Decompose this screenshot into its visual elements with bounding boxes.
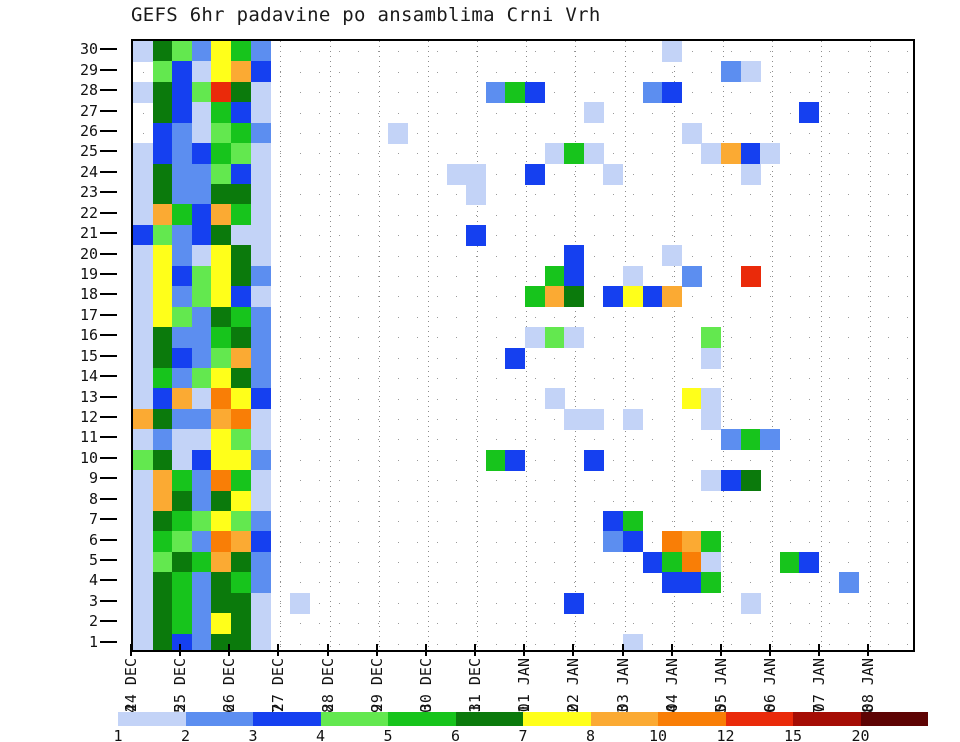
- heatmap-cell: [251, 225, 271, 246]
- heatmap-cell: [584, 102, 604, 123]
- heatmap-cell: [153, 82, 173, 103]
- heatmap-cell: [133, 368, 153, 389]
- chart-page: GEFS 6hr padavine po ansamblima Crni Vrh…: [0, 0, 960, 742]
- y-axis-tick: [100, 477, 117, 479]
- heatmap-cell: [153, 286, 173, 307]
- heatmap-cell: [172, 143, 192, 164]
- heatmap-cell: [486, 82, 506, 103]
- heatmap-cells: [133, 41, 913, 650]
- heatmap-cell: [153, 531, 173, 552]
- y-axis-label: 7: [89, 510, 98, 528]
- heatmap-cell: [251, 634, 271, 652]
- heatmap-cell: [231, 593, 251, 614]
- heatmap-cell: [172, 102, 192, 123]
- colorbar-tick-label: 7: [518, 727, 527, 742]
- heatmap-cell: [172, 225, 192, 246]
- y-axis-label: 17: [80, 306, 98, 324]
- heatmap-cell: [153, 61, 173, 82]
- heatmap-cell: [211, 552, 231, 573]
- heatmap-cell: [623, 286, 643, 307]
- heatmap-cell: [153, 593, 173, 614]
- heatmap-cell: [192, 225, 212, 246]
- heatmap-cell: [172, 429, 192, 450]
- heatmap-cell: [192, 348, 212, 369]
- heatmap-cell: [172, 61, 192, 82]
- heatmap-cell: [623, 511, 643, 532]
- heatmap-cell: [192, 572, 212, 593]
- heatmap-cell: [505, 450, 525, 471]
- heatmap-cell: [192, 491, 212, 512]
- heatmap-cell: [192, 102, 212, 123]
- heatmap-cell: [153, 450, 173, 471]
- colorbar-tick-label: 10: [649, 727, 667, 742]
- heatmap-cell: [153, 511, 173, 532]
- heatmap-cell: [231, 552, 251, 573]
- heatmap-cell: [231, 613, 251, 634]
- heatmap-cell: [525, 164, 545, 185]
- heatmap-cell: [251, 204, 271, 225]
- colorbar-swatch: [861, 712, 929, 726]
- heatmap-cell: [721, 429, 741, 450]
- x-axis-tick: [277, 644, 279, 656]
- y-axis-label: 13: [80, 388, 98, 406]
- y-axis-tick: [100, 518, 117, 520]
- heatmap-cell: [133, 613, 153, 634]
- y-axis-tick: [100, 89, 117, 91]
- heatmap-cell: [251, 470, 271, 491]
- heatmap-cell: [839, 572, 859, 593]
- heatmap-cell: [251, 286, 271, 307]
- heatmap-cell: [662, 552, 682, 573]
- y-axis-label: 29: [80, 61, 98, 79]
- heatmap-cell: [721, 143, 741, 164]
- heatmap-cell: [153, 572, 173, 593]
- heatmap-cell: [545, 388, 565, 409]
- heatmap-cell: [153, 266, 173, 287]
- heatmap-cell: [192, 184, 212, 205]
- y-axis-label: 28: [80, 81, 98, 99]
- x-axis-tick: [867, 644, 869, 656]
- y-axis-label: 16: [80, 326, 98, 344]
- heatmap-cell: [192, 245, 212, 266]
- heatmap-cell: [192, 204, 212, 225]
- heatmap-cell: [153, 164, 173, 185]
- heatmap-cell: [525, 327, 545, 348]
- heatmap-cell: [662, 531, 682, 552]
- heatmap-cell: [623, 266, 643, 287]
- heatmap-cell: [153, 143, 173, 164]
- heatmap-cell: [251, 307, 271, 328]
- heatmap-cell: [133, 82, 153, 103]
- colorbar-tick-label: 8: [586, 727, 595, 742]
- heatmap-cell: [643, 82, 663, 103]
- colorbar-tick-label: 6: [451, 727, 460, 742]
- y-axis-label: 27: [80, 102, 98, 120]
- heatmap-cell: [211, 368, 231, 389]
- y-axis-tick: [100, 110, 117, 112]
- heatmap-cell: [192, 531, 212, 552]
- heatmap-cell: [172, 82, 192, 103]
- heatmap-cell: [133, 327, 153, 348]
- heatmap-cell: [623, 409, 643, 430]
- heatmap-cell: [192, 634, 212, 652]
- x-axis-tick: [474, 644, 476, 656]
- heatmap-cell: [133, 491, 153, 512]
- heatmap-cell: [231, 225, 251, 246]
- y-axis-tick: [100, 191, 117, 193]
- y-axis-tick: [100, 641, 117, 643]
- heatmap-cell: [251, 409, 271, 430]
- y-axis-tick: [100, 253, 117, 255]
- heatmap-cell: [701, 470, 721, 491]
- x-axis-tick: [769, 644, 771, 656]
- heatmap-cell: [192, 61, 212, 82]
- y-axis-tick: [100, 293, 117, 295]
- heatmap-cell: [231, 388, 251, 409]
- heatmap-cell: [721, 470, 741, 491]
- y-axis-label: 24: [80, 163, 98, 181]
- heatmap-cell: [545, 143, 565, 164]
- heatmap-cell: [192, 552, 212, 573]
- heatmap-cell: [211, 82, 231, 103]
- heatmap-cell: [701, 572, 721, 593]
- y-axis-tick: [100, 559, 117, 561]
- heatmap-cell: [133, 184, 153, 205]
- heatmap-cell: [153, 41, 173, 62]
- heatmap-cell: [153, 368, 173, 389]
- x-axis-tick: [130, 644, 132, 656]
- colorbar-swatches: [118, 712, 928, 726]
- heatmap-cell: [172, 245, 192, 266]
- heatmap-cell: [153, 102, 173, 123]
- heatmap-cell: [505, 82, 525, 103]
- heatmap-cell: [153, 388, 173, 409]
- colorbar-swatch: [186, 712, 254, 726]
- heatmap-cell: [231, 491, 251, 512]
- y-axis-label: 6: [89, 531, 98, 549]
- heatmap-cell: [192, 164, 212, 185]
- heatmap-cell: [251, 245, 271, 266]
- heatmap-cell: [251, 593, 271, 614]
- heatmap-cell: [211, 511, 231, 532]
- heatmap-cell: [211, 491, 231, 512]
- heatmap-cell: [251, 61, 271, 82]
- heatmap-cell: [211, 61, 231, 82]
- heatmap-cell: [780, 552, 800, 573]
- heatmap-cell: [231, 41, 251, 62]
- colorbar-swatch: [726, 712, 794, 726]
- heatmap-cell: [741, 164, 761, 185]
- heatmap-cell: [153, 245, 173, 266]
- x-axis-tick: [622, 644, 624, 656]
- heatmap-cell: [172, 491, 192, 512]
- heatmap-cell: [172, 348, 192, 369]
- heatmap-cell: [603, 511, 623, 532]
- heatmap-cell: [564, 286, 584, 307]
- heatmap-cell: [741, 470, 761, 491]
- heatmap-cell: [623, 531, 643, 552]
- heatmap-cell: [172, 531, 192, 552]
- heatmap-cell: [231, 286, 251, 307]
- heatmap-cell: [741, 61, 761, 82]
- heatmap-cell: [172, 327, 192, 348]
- y-axis-label: 18: [80, 285, 98, 303]
- y-axis-tick: [100, 457, 117, 459]
- heatmap-cell: [133, 245, 153, 266]
- colorbar-tick-label: 4: [316, 727, 325, 742]
- heatmap-cell: [172, 511, 192, 532]
- y-axis-tick: [100, 314, 117, 316]
- colorbar-swatch: [658, 712, 726, 726]
- heatmap-cell: [153, 634, 173, 652]
- heatmap-cell: [172, 409, 192, 430]
- heatmap-cell: [133, 348, 153, 369]
- colorbar-tick-label: 2: [181, 727, 190, 742]
- heatmap-cell: [682, 572, 702, 593]
- heatmap-cell: [682, 388, 702, 409]
- heatmap-cell: [192, 266, 212, 287]
- heatmap-cell: [192, 450, 212, 471]
- heatmap-cell: [760, 143, 780, 164]
- heatmap-cell: [211, 409, 231, 430]
- x-axis-tick: [818, 644, 820, 656]
- heatmap-cell: [251, 429, 271, 450]
- heatmap-cell: [153, 491, 173, 512]
- heatmap-cell: [211, 572, 231, 593]
- y-axis-tick: [100, 150, 117, 152]
- page-title: GEFS 6hr padavine po ansamblima Crni Vrh: [131, 4, 601, 26]
- heatmap-cell: [545, 266, 565, 287]
- heatmap-cell: [172, 41, 192, 62]
- colorbar-tick-label: 5: [383, 727, 392, 742]
- heatmap-cell: [466, 184, 486, 205]
- heatmap-cell: [172, 388, 192, 409]
- heatmap-cell: [525, 82, 545, 103]
- colorbar-tick-label: 15: [784, 727, 802, 742]
- x-axis-tick: [376, 644, 378, 656]
- x-axis-tick: [179, 644, 181, 656]
- heatmap-cell: [211, 470, 231, 491]
- colorbar-swatch: [456, 712, 524, 726]
- heatmap-cell: [447, 164, 467, 185]
- heatmap-cell: [564, 593, 584, 614]
- heatmap-cell: [133, 41, 153, 62]
- heatmap-cell: [133, 286, 153, 307]
- heatmap-cell: [172, 470, 192, 491]
- heatmap-cell: [741, 143, 761, 164]
- heatmap-cell: [211, 123, 231, 144]
- heatmap-cell: [211, 102, 231, 123]
- heatmap-cell: [643, 552, 663, 573]
- heatmap-cell: [172, 572, 192, 593]
- heatmap-cell: [172, 286, 192, 307]
- heatmap-cell: [172, 613, 192, 634]
- heatmap-cell: [486, 450, 506, 471]
- heatmap-cell: [153, 184, 173, 205]
- y-axis-label: 12: [80, 408, 98, 426]
- heatmap-cell: [192, 593, 212, 614]
- heatmap-cell: [564, 327, 584, 348]
- heatmap-cell: [701, 531, 721, 552]
- x-axis-tick: [228, 644, 230, 656]
- heatmap-cell: [760, 429, 780, 450]
- y-axis-tick: [100, 48, 117, 50]
- heatmap-cell: [192, 123, 212, 144]
- heatmap-cell: [682, 531, 702, 552]
- heatmap-cell: [231, 327, 251, 348]
- heatmap-cell: [211, 41, 231, 62]
- y-axis-tick: [100, 130, 117, 132]
- heatmap-cell: [133, 634, 153, 652]
- heatmap-cell: [211, 348, 231, 369]
- heatmap-cell: [251, 388, 271, 409]
- y-axis-tick: [100, 171, 117, 173]
- heatmap-cell: [211, 184, 231, 205]
- heatmap-cell: [251, 450, 271, 471]
- heatmap-cell: [251, 511, 271, 532]
- y-axis-label: 14: [80, 367, 98, 385]
- heatmap-cell: [211, 307, 231, 328]
- y-axis-tick: [100, 600, 117, 602]
- y-axis-label: 11: [80, 428, 98, 446]
- y-axis-label: 8: [89, 490, 98, 508]
- heatmap-cell: [133, 552, 153, 573]
- heatmap-cell: [133, 450, 153, 471]
- heatmap-cell: [133, 266, 153, 287]
- y-axis-label: 20: [80, 245, 98, 263]
- heatmap-cell: [153, 123, 173, 144]
- heatmap-cell: [662, 82, 682, 103]
- y-axis-label: 10: [80, 449, 98, 467]
- heatmap-cell: [172, 552, 192, 573]
- y-axis: 1234567891011121314151617181920212223242…: [0, 39, 129, 652]
- heatmap-cell: [211, 286, 231, 307]
- heatmap-cell: [564, 409, 584, 430]
- y-axis-label: 26: [80, 122, 98, 140]
- colorbar-swatch: [118, 712, 186, 726]
- heatmap-cell: [545, 327, 565, 348]
- heatmap-cell: [231, 429, 251, 450]
- heatmap-cell: [290, 593, 310, 614]
- heatmap-cell: [799, 552, 819, 573]
- heatmap-cell: [231, 61, 251, 82]
- heatmap-cell: [701, 327, 721, 348]
- heatmap-cell: [211, 531, 231, 552]
- y-axis-label: 9: [89, 469, 98, 487]
- heatmap-cell: [231, 348, 251, 369]
- heatmap-cell: [211, 429, 231, 450]
- heatmap-cell: [721, 61, 741, 82]
- heatmap-cell: [153, 348, 173, 369]
- heatmap-cell: [153, 225, 173, 246]
- colorbar-tick-label: 12: [716, 727, 734, 742]
- heatmap-cell: [466, 225, 486, 246]
- heatmap-cell: [172, 450, 192, 471]
- heatmap-cell: [741, 266, 761, 287]
- colorbar-tick-label: 1: [113, 727, 122, 742]
- y-axis-label: 5: [89, 551, 98, 569]
- y-axis-tick: [100, 396, 117, 398]
- heatmap-cell: [251, 327, 271, 348]
- heatmap-cell: [525, 286, 545, 307]
- colorbar-swatch: [523, 712, 591, 726]
- heatmap-cell: [172, 164, 192, 185]
- heatmap-cell: [211, 388, 231, 409]
- heatmap-cell: [133, 470, 153, 491]
- x-axis-tick: [523, 644, 525, 656]
- heatmap-cell: [251, 164, 271, 185]
- heatmap-cell: [133, 409, 153, 430]
- heatmap-cell: [603, 531, 623, 552]
- y-axis-tick: [100, 69, 117, 71]
- heatmap-cell: [231, 102, 251, 123]
- y-axis-label: 23: [80, 183, 98, 201]
- heatmap-cell: [231, 531, 251, 552]
- y-axis-tick: [100, 620, 117, 622]
- y-axis-label: 22: [80, 204, 98, 222]
- heatmap-cell: [133, 225, 153, 246]
- heatmap-cell: [153, 327, 173, 348]
- colorbar-tick-label: 3: [248, 727, 257, 742]
- heatmap-cell: [211, 204, 231, 225]
- heatmap-cell: [172, 307, 192, 328]
- heatmap-cell: [192, 470, 212, 491]
- heatmap-cell: [153, 204, 173, 225]
- x-axis-tick: [572, 644, 574, 656]
- heatmap-cell: [192, 307, 212, 328]
- heatmap-cell: [682, 552, 702, 573]
- heatmap-cell: [662, 572, 682, 593]
- heatmap-cell: [192, 613, 212, 634]
- y-axis-tick: [100, 375, 117, 377]
- y-axis-tick: [100, 232, 117, 234]
- heatmap-cell: [231, 123, 251, 144]
- heatmap-cell: [133, 204, 153, 225]
- colorbar-swatch: [321, 712, 389, 726]
- heatmap-cell: [251, 184, 271, 205]
- y-axis-tick: [100, 273, 117, 275]
- y-axis-tick: [100, 579, 117, 581]
- heatmap-cell: [231, 143, 251, 164]
- y-axis-label: 21: [80, 224, 98, 242]
- heatmap-cell: [701, 348, 721, 369]
- heatmap-cell: [251, 572, 271, 593]
- heatmap-cell: [133, 143, 153, 164]
- heatmap-cell: [584, 409, 604, 430]
- heatmap-cell: [251, 552, 271, 573]
- heatmap-cell: [662, 286, 682, 307]
- y-axis-label: 1: [89, 633, 98, 651]
- y-axis-tick: [100, 212, 117, 214]
- heatmap-cell: [172, 184, 192, 205]
- y-axis-label: 3: [89, 592, 98, 610]
- heatmap-cell: [584, 143, 604, 164]
- heatmap-cell: [701, 409, 721, 430]
- heatmap-cell: [192, 327, 212, 348]
- heatmap-cell: [172, 368, 192, 389]
- heatmap-cell: [231, 409, 251, 430]
- heatmap-cell: [682, 123, 702, 144]
- heatmap-cell: [192, 388, 212, 409]
- heatmap-cell: [662, 245, 682, 266]
- heatmap-cell: [701, 143, 721, 164]
- heatmap-cell: [172, 266, 192, 287]
- heatmap-cell: [251, 491, 271, 512]
- heatmap-cell: [251, 123, 271, 144]
- x-axis-tick: [720, 644, 722, 656]
- heatmap-cell: [231, 634, 251, 652]
- heatmap-cell: [211, 266, 231, 287]
